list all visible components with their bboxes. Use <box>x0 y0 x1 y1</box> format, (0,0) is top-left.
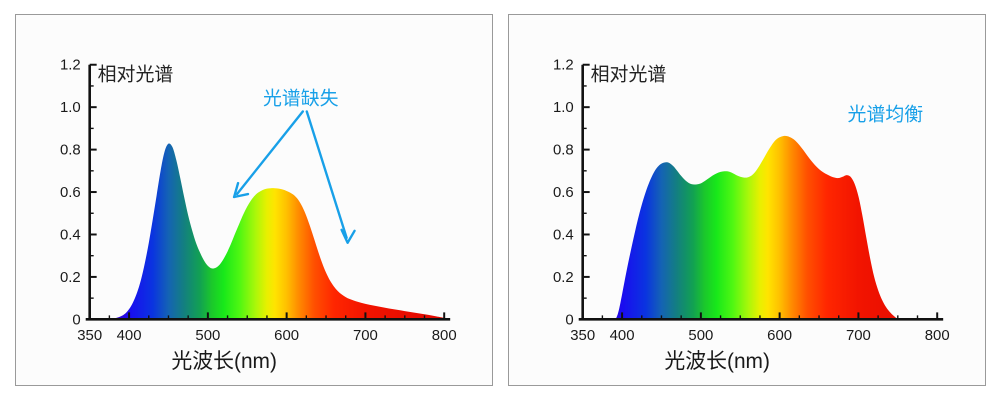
y-tick-label: 1.0 <box>553 99 574 116</box>
x-tick-label: 800 <box>432 327 457 344</box>
y-tick-label: 0.2 <box>60 269 81 286</box>
x-tick-label: 500 <box>195 327 220 344</box>
y-tick-label: 1.2 <box>553 57 574 74</box>
y-tick-label: 0.2 <box>553 269 574 286</box>
x-tick-label: 400 <box>610 327 635 344</box>
x-tick-label: 700 <box>846 327 871 344</box>
x-axis-title-right: 光波长(nm) <box>664 350 770 373</box>
spectrum-area-left <box>90 143 445 319</box>
spectrum-area-right <box>583 136 938 319</box>
chart-panel-right: 35040050060070080000.20.40.60.81.01.2 相对… <box>508 14 986 386</box>
right-spectrum-chart: 35040050060070080000.20.40.60.81.01.2 相对… <box>509 15 985 385</box>
arrow-head-2 <box>342 230 355 243</box>
chart-panel-left: 35040050060070080000.20.40.60.81.01.2 相对… <box>15 14 493 386</box>
x-tick-label: 500 <box>688 327 713 344</box>
arrow-line-2 <box>307 111 347 237</box>
plot-title-right: 相对光谱 <box>591 64 667 86</box>
x-tick-label: 350 <box>570 327 595 344</box>
x-tick-label: 600 <box>767 327 792 344</box>
x-tick-label: 800 <box>925 327 950 344</box>
x-axis-title-left: 光波长(nm) <box>171 350 277 373</box>
x-tick-label: 700 <box>353 327 378 344</box>
y-tick-label: 0.8 <box>60 142 81 159</box>
y-tick-label: 0 <box>565 311 573 328</box>
y-tick-label: 0.4 <box>553 226 574 243</box>
y-tick-label: 0.6 <box>553 184 574 201</box>
y-tick-label: 0.4 <box>60 226 81 243</box>
left-spectrum-chart: 35040050060070080000.20.40.60.81.01.2 相对… <box>16 15 492 385</box>
figure-root: 35040050060070080000.20.40.60.81.01.2 相对… <box>0 0 1000 401</box>
annotation-label-right: 光谱均衡 <box>848 103 924 125</box>
arrow-line-1 <box>237 111 303 194</box>
plot-title-left: 相对光谱 <box>98 64 174 86</box>
y-tick-label: 0 <box>72 311 80 328</box>
y-tick-label: 1.0 <box>60 99 81 116</box>
annotation-label-left: 光谱缺失 <box>263 88 339 110</box>
x-tick-label: 400 <box>117 327 142 344</box>
y-tick-label: 0.8 <box>553 142 574 159</box>
y-tick-label: 1.2 <box>60 57 81 74</box>
x-tick-label: 600 <box>274 327 299 344</box>
y-tick-label: 0.6 <box>60 184 81 201</box>
x-tick-label: 350 <box>77 327 102 344</box>
